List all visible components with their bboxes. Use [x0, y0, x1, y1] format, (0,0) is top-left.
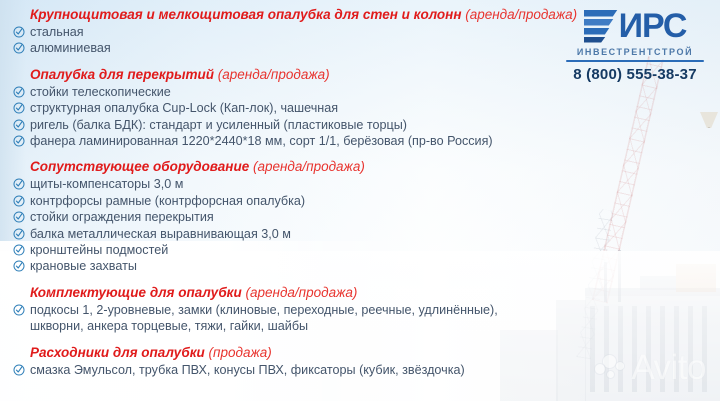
- list-item: балка металлическая выравнивающая 3,0 м: [12, 226, 572, 242]
- company-tagline: ИНВЕСТРЕНТСТРОЙ: [560, 47, 710, 57]
- chevron-bars-icon: [584, 10, 618, 43]
- list-item-label: алюминиевая: [30, 41, 111, 55]
- list-item: стальная: [12, 24, 572, 40]
- building-gable: [640, 276, 676, 290]
- list-item-label: балка металлическая выравнивающая 3,0 м: [30, 227, 291, 241]
- list-item-label: крановые захваты: [30, 259, 137, 273]
- group-item-list: смазка Эмульсол, трубка ПВХ, конусы ПВХ,…: [12, 362, 572, 378]
- check-circle-icon: [13, 211, 25, 223]
- check-circle-icon: [13, 244, 25, 256]
- building-warm-block: [676, 264, 716, 292]
- group-title-text: Комплектующие для опалубки: [30, 285, 242, 300]
- avito-dots-icon: [595, 355, 625, 381]
- group-title-terms: (аренда/продажа): [249, 159, 365, 174]
- list-item: фанера ламинированная 1220*2440*18 мм, с…: [12, 133, 572, 149]
- group-title: Сопутствующее оборудование (аренда/прода…: [30, 158, 572, 175]
- scaffold-post: [604, 262, 607, 302]
- list-item: кронштейны подмостей: [12, 242, 572, 258]
- check-circle-icon: [13, 260, 25, 272]
- list-item: контрфорсы рамные (контрфорсная опалубка…: [12, 193, 572, 209]
- group-title-text: Опалубка для перекрытий: [30, 67, 214, 82]
- list-item-label: кронштейны подмостей: [30, 243, 168, 257]
- check-circle-icon: [13, 178, 25, 190]
- check-circle-icon: [13, 42, 25, 54]
- list-item-label: фанера ламинированная 1220*2440*18 мм, с…: [30, 134, 493, 148]
- group-title-text: Расходники для опалубки: [30, 345, 205, 360]
- check-circle-icon: [13, 119, 25, 131]
- building-roofline: [585, 288, 720, 296]
- catalogue-group: Сопутствующее оборудование (аренда/прода…: [12, 158, 572, 274]
- check-circle-icon: [13, 304, 25, 316]
- group-title: Крупнощитовая и мелкощитовая опалубка дл…: [30, 6, 572, 23]
- group-title-terms: (аренда/продажа): [461, 7, 577, 22]
- group-title: Комплектующие для опалубки (аренда/прода…: [30, 284, 572, 301]
- group-title-text: Сопутствующее оборудование: [30, 159, 249, 174]
- check-circle-icon: [13, 195, 25, 207]
- group-item-list: подкосы 1, 2-уровневые, замки (клиновые,…: [12, 302, 572, 335]
- list-item: стойки ограждения перекрытия: [12, 209, 572, 225]
- list-item-label: ригель (балка БДК): стандарт и усиленный…: [30, 118, 407, 132]
- group-title-terms: (продажа): [205, 345, 272, 360]
- list-item: смазка Эмульсол, трубка ПВХ, конусы ПВХ,…: [12, 362, 572, 378]
- company-logo-block: ИРС ИНВЕСТРЕНТСТРОЙ 8 (800) 555-38-37: [560, 6, 710, 83]
- list-item-label: щиты-компенсаторы 3,0 м: [30, 177, 183, 191]
- check-circle-icon: [13, 228, 25, 240]
- check-circle-icon: [13, 86, 25, 98]
- catalogue-group: Комплектующие для опалубки (аренда/прода…: [12, 284, 572, 335]
- list-item: ригель (балка БДК): стандарт и усиленный…: [12, 117, 572, 133]
- list-item-label: структурная опалубка Cup-Lock (Кап-лок),…: [30, 101, 338, 115]
- list-item: алюминиевая: [12, 40, 572, 56]
- list-item: подкосы 1, 2-уровневые, замки (клиновые,…: [12, 302, 572, 335]
- logo-letters: ИРС: [619, 10, 687, 43]
- list-item-label: стойки телескопические: [30, 85, 171, 99]
- avito-wordmark: Avito: [631, 350, 706, 385]
- catalogue-group: Расходники для опалубки (продажа)смазка …: [12, 344, 572, 378]
- group-item-list: щиты-компенсаторы 3,0 мконтрфорсы рамные…: [12, 176, 572, 274]
- list-item-label: подкосы 1, 2-уровневые, замки (клиновые,…: [30, 303, 498, 333]
- list-item: стойки телескопические: [12, 84, 572, 100]
- list-item-label: стальная: [30, 25, 84, 39]
- logo-divider: [566, 60, 704, 62]
- catalogue-list: Крупнощитовая и мелкощитовая опалубка дл…: [12, 6, 572, 380]
- check-circle-icon: [13, 135, 25, 147]
- group-title: Опалубка для перекрытий (аренда/продажа): [30, 66, 572, 83]
- tower-crane-secondary-icon: [577, 209, 614, 359]
- logo-lockup: ИРС: [560, 6, 710, 46]
- group-item-list: стойки телескопическиеструктурная опалуб…: [12, 84, 572, 150]
- avito-watermark: Avito: [595, 350, 706, 385]
- group-title-terms: (аренда/продажа): [214, 67, 330, 82]
- group-title: Расходники для опалубки (продажа): [30, 344, 572, 361]
- check-circle-icon: [13, 364, 25, 376]
- group-title-terms: (аренда/продажа): [242, 285, 358, 300]
- list-item-label: контрфорсы рамные (контрфорсная опалубка…: [30, 194, 305, 208]
- catalogue-group: Опалубка для перекрытий (аренда/продажа)…: [12, 66, 572, 150]
- advert-banner: Avito ИРС ИНВЕСТРЕНТСТРОЙ 8 (800) 555-38…: [0, 0, 720, 401]
- list-item-label: стойки ограждения перекрытия: [30, 210, 214, 224]
- list-item: структурная опалубка Cup-Lock (Кап-лок),…: [12, 100, 572, 116]
- list-item: щиты-компенсаторы 3,0 м: [12, 176, 572, 192]
- crane-hook-icon: [700, 112, 718, 128]
- check-circle-icon: [13, 102, 25, 114]
- group-item-list: стальнаяалюминиевая: [12, 24, 572, 57]
- list-item: крановые захваты: [12, 258, 572, 274]
- check-circle-icon: [13, 26, 25, 38]
- list-item-label: смазка Эмульсол, трубка ПВХ, конусы ПВХ,…: [30, 363, 465, 377]
- group-title-text: Крупнощитовая и мелкощитовая опалубка дл…: [30, 7, 461, 22]
- company-phone[interactable]: 8 (800) 555-38-37: [560, 66, 710, 83]
- tower-crane-icon: [592, 56, 664, 303]
- catalogue-group: Крупнощитовая и мелкощитовая опалубка дл…: [12, 6, 572, 57]
- scaffold-post-2: [618, 250, 621, 302]
